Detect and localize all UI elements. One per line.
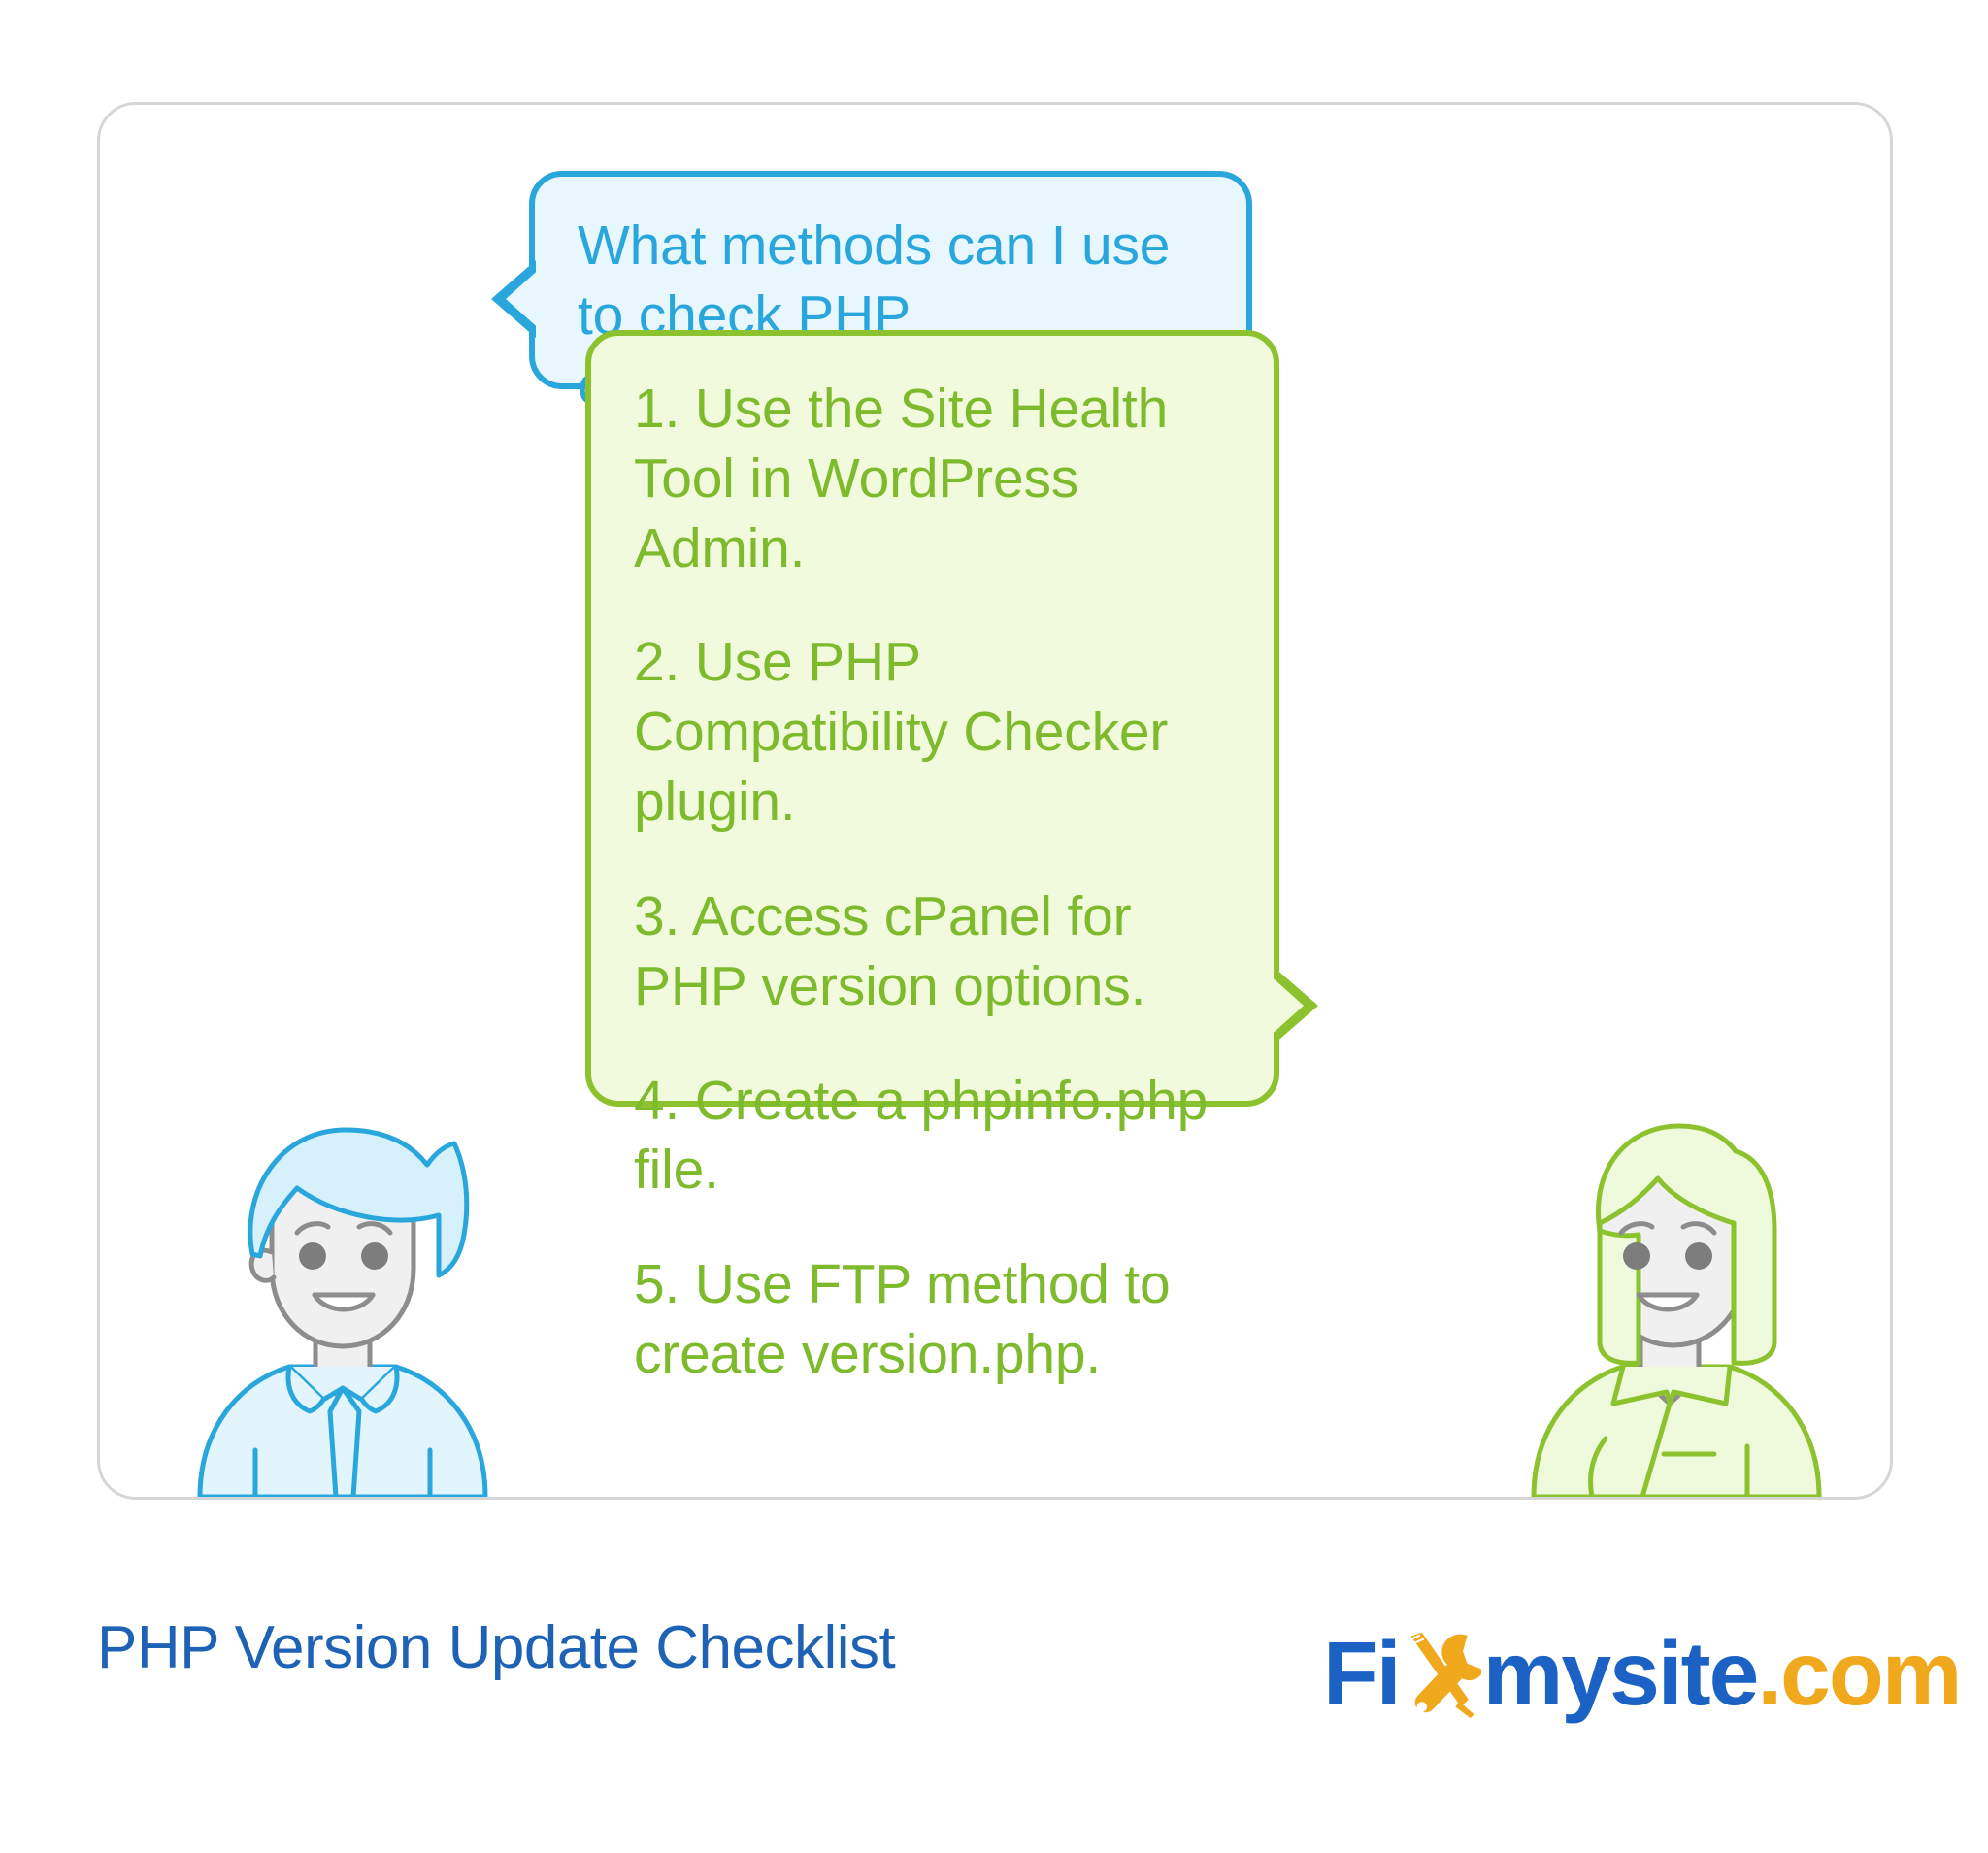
answer-step: 1. Use the Site Health Tool in WordPress…: [634, 375, 1237, 583]
answer-step: 4. Create a phpinfo.php file.: [634, 1067, 1237, 1207]
female-avatar: [1516, 1108, 1837, 1497]
conversation-card: What methods can I use to check PHP comp…: [97, 102, 1893, 1500]
answer-step: 5. Use FTP method to create version.php.: [634, 1250, 1237, 1390]
answer-step: 3. Access cPanel for PHP version options…: [634, 882, 1237, 1022]
question-bubble-tail-fill: [506, 266, 543, 332]
wrench-screwdriver-x-icon: [1394, 1627, 1487, 1720]
answer-speech-bubble: 1. Use the Site Health Tool in WordPress…: [585, 330, 1279, 1107]
fixmysite-logo[interactable]: Fi mysite .com: [1323, 1619, 1960, 1728]
answer-step: 2. Use PHP Compatibility Checker plugin.: [634, 628, 1237, 837]
page-title: PHP Version Update Checklist: [97, 1613, 895, 1682]
answer-bubble-tail-fill: [1267, 973, 1304, 1039]
logo-text-com: .com: [1757, 1629, 1960, 1719]
logo-text-mysite: mysite: [1483, 1629, 1758, 1719]
logo-text-fi: Fi: [1323, 1629, 1400, 1719]
male-avatar: [182, 1108, 503, 1497]
